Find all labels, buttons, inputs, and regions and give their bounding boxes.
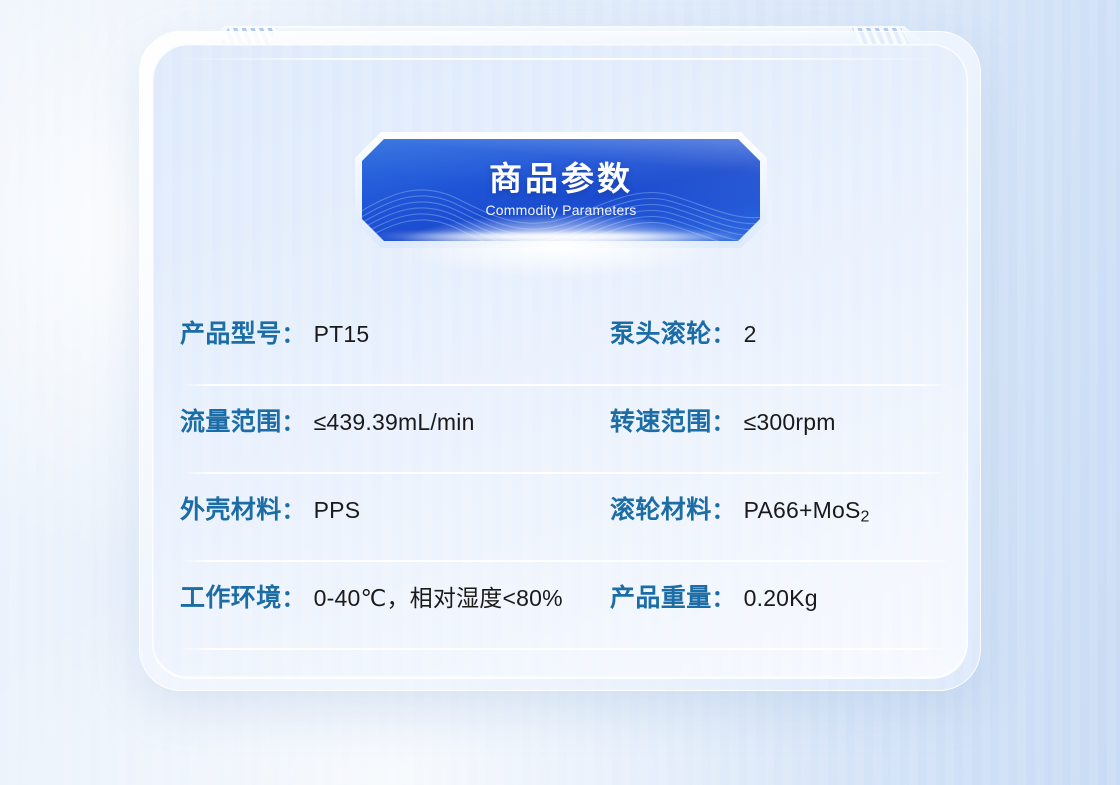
spec-cell-working-environment: 工作环境 ： 0-40℃，相对湿度<80% xyxy=(180,562,610,614)
spec-label: 产品重量 xyxy=(610,578,712,614)
spec-value: ≤439.39mL/min xyxy=(314,409,475,436)
table-row: 流量范围 ： ≤439.39mL/min 转速范围 ： ≤300rpm xyxy=(180,386,950,474)
spec-value: 0.20Kg xyxy=(744,585,818,612)
spec-label: 工作环境 xyxy=(180,578,282,614)
spec-cell-pump-head-rollers: 泵头滚轮 ： 2 xyxy=(610,298,950,350)
spec-label: 产品型号 xyxy=(180,314,282,350)
spec-colon: ： xyxy=(712,315,735,349)
table-row: 工作环境 ： 0-40℃，相对湿度<80% 产品重量 ： 0.20Kg xyxy=(180,562,950,650)
spec-value: 2 xyxy=(744,321,757,348)
spec-label: 滚轮材料 xyxy=(610,490,712,526)
spec-value: PPS xyxy=(314,497,361,524)
spec-value: PT15 xyxy=(314,321,370,348)
banner-title-chinese: 商品参数 xyxy=(489,162,633,197)
spec-value: ≤300rpm xyxy=(744,409,836,436)
spec-label: 泵头滚轮 xyxy=(610,314,712,350)
spec-cell-product-weight: 产品重量 ： 0.20Kg xyxy=(610,562,950,614)
product-parameters-page: 商品参数 Commodity Parameters 产品型号 ： PT15 泵头… xyxy=(0,0,1120,785)
spec-cell-flow-range: 流量范围 ： ≤439.39mL/min xyxy=(180,386,610,438)
spec-value: 0-40℃，相对湿度<80% xyxy=(314,579,563,613)
spec-colon: ： xyxy=(282,579,305,613)
spec-colon: ： xyxy=(712,491,735,525)
spec-cell-speed-range: 转速范围 ： ≤300rpm xyxy=(610,386,950,438)
banner-text-block: 商品参数 Commodity Parameters xyxy=(362,139,760,241)
spec-label: 流量范围 xyxy=(180,402,282,438)
table-row: 外壳材料 ： PPS 滚轮材料 ： PA66+MoS2 xyxy=(180,474,950,562)
spec-colon: ： xyxy=(282,403,305,437)
banner-body: 商品参数 Commodity Parameters xyxy=(362,139,760,241)
spec-value-subscript: 2 xyxy=(861,509,870,526)
spec-label: 转速范围 xyxy=(610,402,712,438)
row-divider xyxy=(180,648,950,650)
banner-title-english: Commodity Parameters xyxy=(485,202,636,218)
section-title-banner: 商品参数 Commodity Parameters xyxy=(355,132,767,248)
specifications-table: 产品型号 ： PT15 泵头滚轮 ： 2 流量范围 ： ≤439.39mL/mi… xyxy=(180,298,950,650)
spec-colon: ： xyxy=(282,315,305,349)
spec-colon: ： xyxy=(712,403,735,437)
spec-cell-housing-material: 外壳材料 ： PPS xyxy=(180,474,610,526)
spec-colon: ： xyxy=(712,579,735,613)
spec-value: PA66+MoS2 xyxy=(744,497,870,527)
spec-colon: ： xyxy=(282,491,305,525)
spec-cell-roller-material: 滚轮材料 ： PA66+MoS2 xyxy=(610,474,950,527)
spec-cell-product-model: 产品型号 ： PT15 xyxy=(180,298,610,350)
table-row: 产品型号 ： PT15 泵头滚轮 ： 2 xyxy=(180,298,950,386)
card-top-highlight xyxy=(174,58,946,60)
spec-label: 外壳材料 xyxy=(180,490,282,526)
spec-value-main: PA66+MoS xyxy=(744,497,861,523)
